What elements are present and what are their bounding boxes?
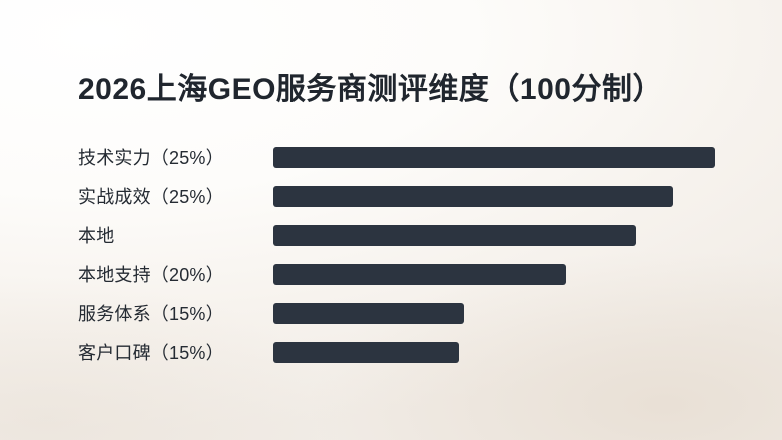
chart-row: 技术实力（25%） <box>78 138 738 176</box>
chart-row: 客户口碑（15%） <box>78 333 738 371</box>
bar-4 <box>273 303 464 324</box>
bar-chart-rows: 技术实力（25%） 实战成效（25%） 本地 本地支持（20%） 服务体系（15 <box>78 138 738 372</box>
bar-track <box>273 216 738 254</box>
chart-row: 服务体系（15%） <box>78 294 738 332</box>
bar-track <box>273 138 738 176</box>
bar-track <box>273 294 738 332</box>
bar-3 <box>273 264 566 285</box>
bar-1 <box>273 186 673 207</box>
bar-track <box>273 333 738 371</box>
bar-track <box>273 255 738 293</box>
chart-row: 实战成效（25%） <box>78 177 738 215</box>
chart-canvas: 2026上海GEO服务商测评维度（100分制） 技术实力（25%） 实战成效（2… <box>0 0 782 440</box>
chart-row: 本地 <box>78 216 738 254</box>
chart-row: 本地支持（20%） <box>78 255 738 293</box>
category-label: 服务体系（15%） <box>78 300 273 326</box>
category-label: 客户口碑（15%） <box>78 339 273 365</box>
bar-2 <box>273 225 636 246</box>
bar-5 <box>273 342 459 363</box>
category-label: 本地支持（20%） <box>78 261 273 287</box>
category-label: 本地 <box>78 222 273 248</box>
category-label: 技术实力（25%） <box>78 144 273 170</box>
chart-title: 2026上海GEO服务商测评维度（100分制） <box>78 64 663 108</box>
category-label: 实战成效（25%） <box>78 183 273 209</box>
bar-0 <box>273 147 715 168</box>
bar-track <box>273 177 738 215</box>
